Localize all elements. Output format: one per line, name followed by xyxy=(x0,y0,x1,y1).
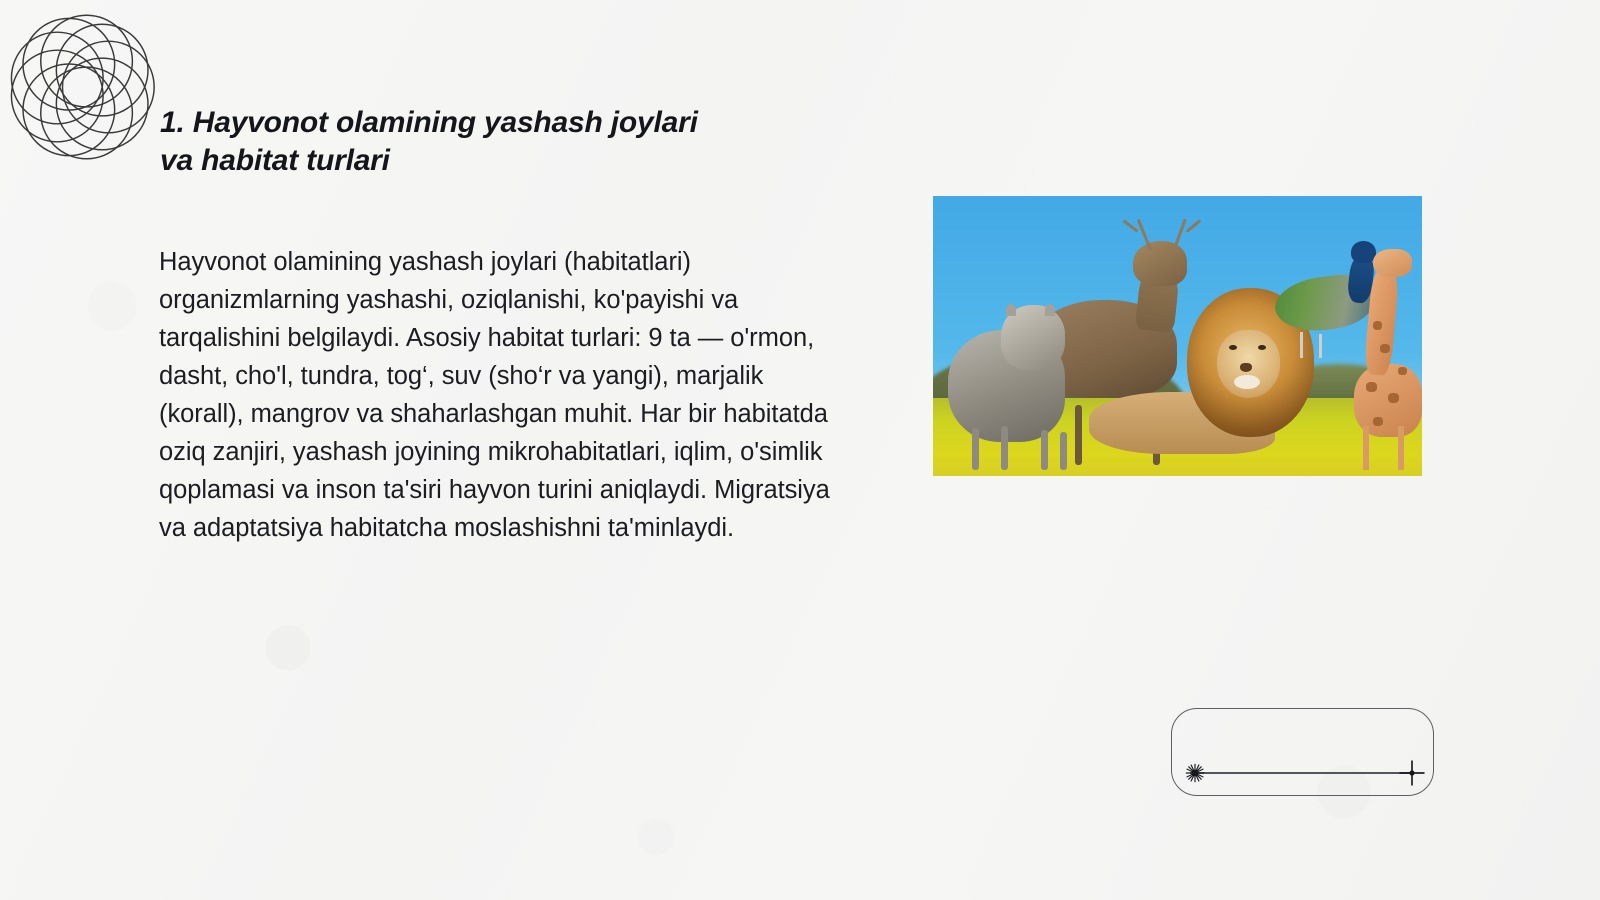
wolf-leg-4 xyxy=(1060,432,1067,470)
giraffe-spot xyxy=(1373,321,1382,330)
slide-body-text: Hayvonot olamining yashash joylari (habi… xyxy=(159,243,831,547)
giraffe-leg-back xyxy=(1398,426,1404,470)
giraffe-spot xyxy=(1380,344,1390,353)
wildlife-habitat-photo xyxy=(933,196,1422,476)
slider-track[interactable] xyxy=(1190,772,1412,774)
peacock-leg-left xyxy=(1300,332,1303,358)
giraffe-spot xyxy=(1373,417,1383,426)
spirograph-logo xyxy=(4,8,160,166)
starburst-icon[interactable] xyxy=(1184,762,1206,784)
deer-leg-front xyxy=(1075,405,1082,465)
slide-canvas: 1. Hayvonot olamining yashash joylari va… xyxy=(0,0,1600,900)
wolf-ear-left xyxy=(1006,304,1016,316)
peacock-leg-right xyxy=(1319,334,1322,358)
peacock-head xyxy=(1351,241,1375,263)
giraffe-head xyxy=(1373,249,1412,277)
wolf-leg-1 xyxy=(972,428,979,470)
lion-muzzle xyxy=(1234,375,1260,389)
giraffe-spot xyxy=(1388,393,1399,403)
giraffe-spot xyxy=(1398,367,1407,375)
plus-icon[interactable] xyxy=(1398,759,1426,787)
slide-title: 1. Hayvonot olamining yashash joylari va… xyxy=(160,104,860,180)
wolf-leg-2 xyxy=(1001,426,1008,470)
wolf-leg-3 xyxy=(1041,430,1048,470)
giraffe-spot xyxy=(1366,382,1377,392)
giraffe-leg-front xyxy=(1363,426,1369,470)
wolf-ear-right xyxy=(1045,304,1055,316)
deer-head xyxy=(1133,241,1187,286)
slider-control[interactable] xyxy=(1171,708,1434,796)
lion-eye-left xyxy=(1229,345,1237,350)
spirograph-icon xyxy=(4,8,160,166)
